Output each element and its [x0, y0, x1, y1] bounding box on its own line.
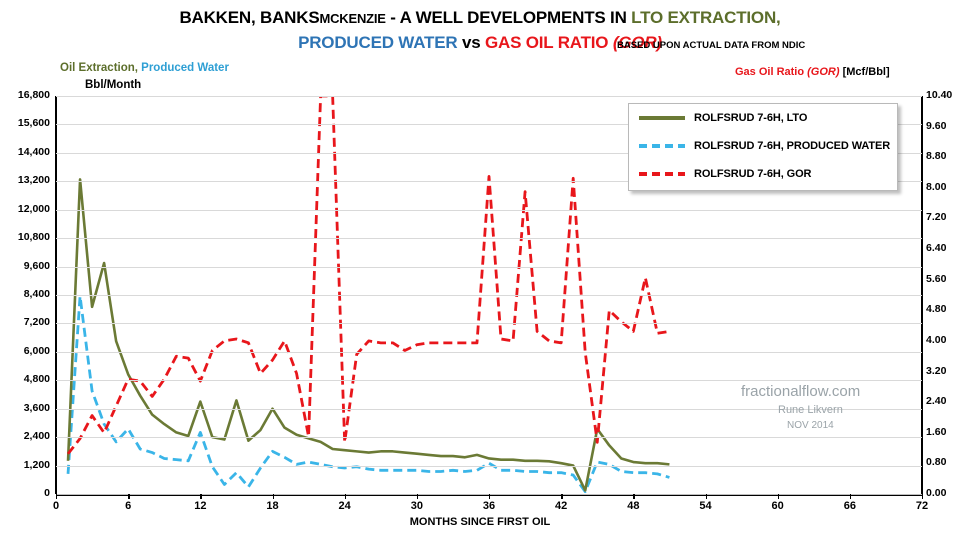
- y2-tick-label: 0.80: [926, 456, 960, 468]
- x-tick-label: 18: [266, 500, 278, 512]
- y2-tick-label: 1.60: [926, 426, 960, 438]
- x-tick-label: 42: [555, 500, 567, 512]
- x-tick-mark: [417, 494, 418, 499]
- y-tick-label: 10,800: [0, 231, 50, 243]
- legend-label: ROLFSRUD 7-6H, LTO: [694, 112, 807, 124]
- title-produced-water: PRODUCED WATER: [298, 33, 457, 52]
- series-line: [68, 179, 669, 490]
- left-axis-caption: Oil Extraction, Produced Water: [60, 62, 229, 74]
- y2-tick-label: 10.40: [926, 89, 960, 101]
- watermark-date: NOV 2014: [787, 420, 834, 431]
- legend-label: ROLFSRUD 7-6H, PRODUCED WATER: [694, 140, 890, 152]
- legend-swatch: [639, 116, 685, 120]
- y2-tick-label: 3.20: [926, 365, 960, 377]
- y2-tick-label: 0.00: [926, 487, 960, 499]
- x-tick-mark: [922, 494, 923, 499]
- x-tick-mark: [345, 494, 346, 499]
- legend-swatch: [639, 172, 685, 176]
- y2-tick-label: 9.60: [926, 120, 960, 132]
- watermark-site: fractionalflow.com: [741, 383, 860, 400]
- gridline: [56, 352, 922, 353]
- y2-tick-label: 4.80: [926, 303, 960, 315]
- x-tick-label: 6: [125, 500, 131, 512]
- y-tick-label: 12,000: [0, 203, 50, 215]
- y2-tick-label: 6.40: [926, 242, 960, 254]
- gridline: [56, 466, 922, 467]
- title-gas-oil-ratio: GAS OIL RATIO: [485, 33, 613, 52]
- legend-label: ROLFSRUD 7-6H, GOR: [694, 168, 811, 180]
- title-vs: vs: [457, 33, 485, 52]
- y-tick-label: 6,000: [0, 345, 50, 357]
- y-tick-label: 0: [0, 487, 50, 499]
- gridline: [56, 437, 922, 438]
- legend: ROLFSRUD 7-6H, LTOROLFSRUD 7-6H, PRODUCE…: [628, 103, 898, 191]
- title-mid: - A WELL DEVELOPMENTS IN: [386, 8, 631, 27]
- legend-swatch: [639, 144, 685, 148]
- series-line: [68, 296, 669, 491]
- x-tick-label: 0: [53, 500, 59, 512]
- x-tick-mark: [850, 494, 851, 499]
- x-tick-label: 66: [844, 500, 856, 512]
- x-tick-label: 60: [772, 500, 784, 512]
- gridline: [56, 267, 922, 268]
- gridline: [56, 96, 922, 97]
- x-tick-mark: [633, 494, 634, 499]
- chart-title-line-1: BAKKEN, BANKSMCKENZIE - A WELL DEVELOPME…: [0, 8, 960, 28]
- legend-item[interactable]: ROLFSRUD 7-6H, LTO: [629, 104, 897, 132]
- gridline: [56, 210, 922, 211]
- series-line: [68, 96, 669, 454]
- x-tick-mark: [128, 494, 129, 499]
- x-tick-label: 30: [411, 500, 423, 512]
- y-tick-label: 15,600: [0, 117, 50, 129]
- y-tick-label: 13,200: [0, 174, 50, 186]
- x-tick-mark: [489, 494, 490, 499]
- legend-item[interactable]: ROLFSRUD 7-6H, PRODUCED WATER: [629, 132, 897, 160]
- x-tick-mark: [561, 494, 562, 499]
- left-axis-caption-water: Produced Water: [138, 62, 229, 74]
- right-axis-caption-abbrev: (GOR): [807, 66, 839, 78]
- y2-tick-label: 4.00: [926, 334, 960, 346]
- x-tick-mark: [200, 494, 201, 499]
- y-tick-label: 2,400: [0, 430, 50, 442]
- title-mckenzie: MCKENZIE: [319, 11, 385, 26]
- y-tick-label: 7,200: [0, 316, 50, 328]
- y2-tick-label: 5.60: [926, 273, 960, 285]
- title-bakken-banks: BAKKEN, BANKS: [179, 8, 319, 27]
- x-tick-label: 24: [339, 500, 351, 512]
- y-tick-label: 3,600: [0, 402, 50, 414]
- x-tick-label: 48: [627, 500, 639, 512]
- x-tick-mark: [778, 494, 779, 499]
- watermark-author: Rune Likvern: [778, 404, 843, 416]
- left-axis-caption-oil: Oil Extraction,: [60, 62, 138, 74]
- y2-tick-label: 7.20: [926, 211, 960, 223]
- legend-item[interactable]: ROLFSRUD 7-6H, GOR: [629, 160, 897, 188]
- chart-canvas: BAKKEN, BANKSMCKENZIE - A WELL DEVELOPME…: [0, 0, 960, 540]
- gridline: [56, 238, 922, 239]
- title-lto-extraction: LTO EXTRACTION,: [631, 8, 780, 27]
- y-tick-label: 14,400: [0, 146, 50, 158]
- x-tick-label: 12: [194, 500, 206, 512]
- y2-tick-label: 2.40: [926, 395, 960, 407]
- x-tick-label: 72: [916, 500, 928, 512]
- y-tick-label: 9,600: [0, 260, 50, 272]
- right-axis-caption: Gas Oil Ratio (GOR) [Mcf/Bbl]: [735, 66, 890, 78]
- x-tick-mark: [706, 494, 707, 499]
- x-tick-mark: [56, 494, 57, 499]
- y-tick-label: 16,800: [0, 89, 50, 101]
- x-axis-label: MONTHS SINCE FIRST OIL: [0, 516, 960, 528]
- gridline: [56, 295, 922, 296]
- y-tick-label: 1,200: [0, 459, 50, 471]
- y-tick-label: 8,400: [0, 288, 50, 300]
- y-tick-label: 4,800: [0, 373, 50, 385]
- x-tick-label: 36: [483, 500, 495, 512]
- x-tick-mark: [273, 494, 274, 499]
- right-axis-caption-gor: Gas Oil Ratio: [735, 66, 807, 78]
- left-axis-units: Bbl/Month: [85, 79, 141, 91]
- chart-title-line-2: PRODUCED WATER vs GAS OIL RATIO (GOR): [0, 33, 960, 53]
- x-tick-label: 54: [699, 500, 711, 512]
- y2-tick-label: 8.80: [926, 150, 960, 162]
- y2-tick-label: 8.00: [926, 181, 960, 193]
- right-axis-units: [Mcf/Bbl]: [840, 66, 890, 78]
- source-note: BASED UPON ACTUAL DATA FROM NDIC: [617, 40, 805, 51]
- gridline: [56, 380, 922, 381]
- gridline: [56, 323, 922, 324]
